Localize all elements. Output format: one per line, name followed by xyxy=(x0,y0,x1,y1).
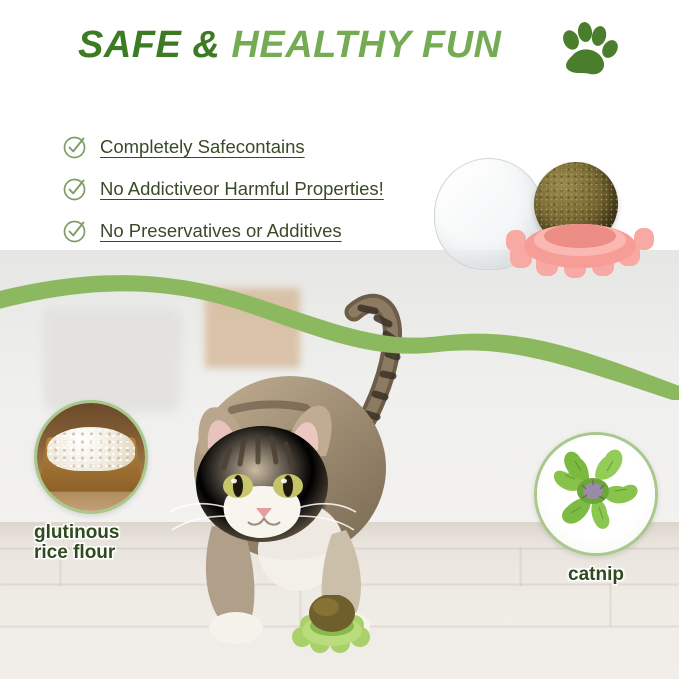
paw-print-icon xyxy=(560,22,618,78)
green-catnip-toy xyxy=(288,595,376,655)
ingredient-label: catnip xyxy=(530,565,662,585)
ingredient-photo-rice xyxy=(34,400,148,514)
ingredient-label-line-1: glutinous xyxy=(34,523,182,543)
feature-list: Completely Safecontains No Addictiveor H… xyxy=(62,126,482,252)
list-item: Completely Safecontains xyxy=(62,126,482,168)
ingredient-label: glutinous rice flour xyxy=(32,523,182,563)
list-item: No Preservatives or Additives xyxy=(62,210,482,252)
check-circle-icon xyxy=(62,218,88,244)
product-infographic: SAFE & HEALTHY FUN Completely Safecontai… xyxy=(0,0,679,679)
list-item-label: No Preservatives or Additives xyxy=(100,220,342,242)
ingredient-photo-catnip xyxy=(534,432,658,556)
ingredient-label-line-2: rice flour xyxy=(34,543,182,563)
list-item-label: No Addictiveor Harmful Properties! xyxy=(100,178,384,200)
ingredient-catnip: catnip xyxy=(530,432,662,585)
title-part-2: HEALTHY FUN xyxy=(231,24,501,66)
list-item-label: Completely Safecontains xyxy=(100,136,305,158)
title-part-1: SAFE & xyxy=(78,24,231,66)
ingredient-glutinous-rice-flour: glutinous rice flour xyxy=(32,400,182,563)
page-title: SAFE & HEALTHY FUN xyxy=(78,26,502,64)
pink-flower-base xyxy=(506,218,656,280)
check-circle-icon xyxy=(62,176,88,202)
ingredient-label-line-1: catnip xyxy=(530,565,662,585)
check-circle-icon xyxy=(62,134,88,160)
list-item: No Addictiveor Harmful Properties! xyxy=(62,168,482,210)
